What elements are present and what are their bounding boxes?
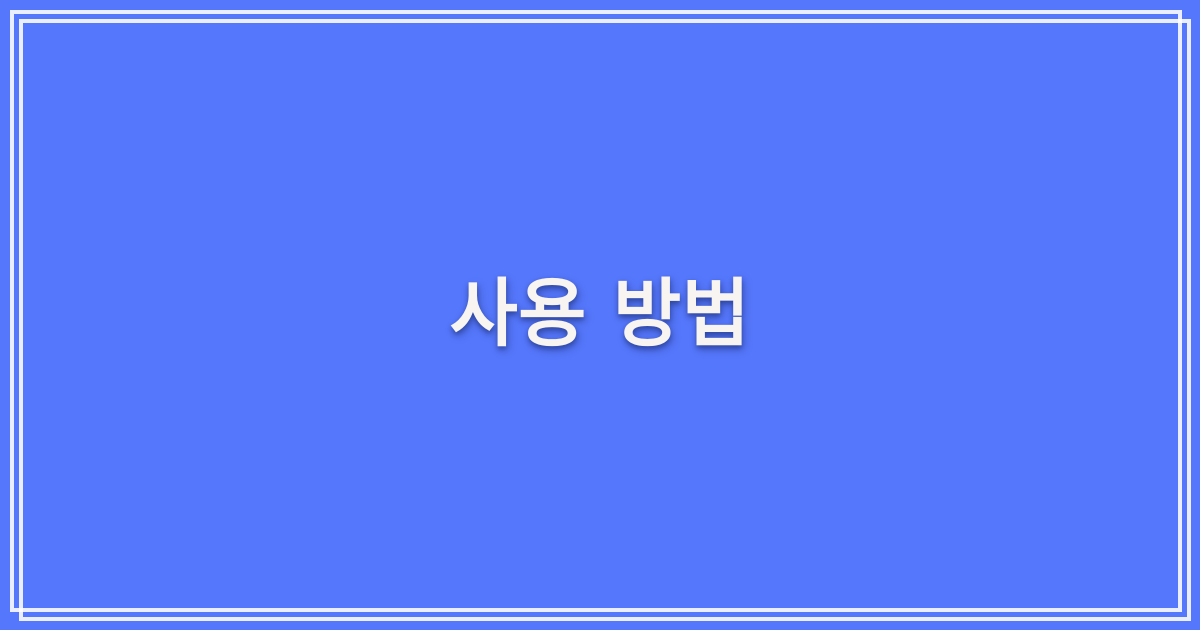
title-container: 사용 방법 bbox=[0, 0, 1200, 630]
thumbnail-canvas: 사용 방법 bbox=[0, 0, 1200, 630]
page-title: 사용 방법 bbox=[390, 271, 811, 358]
